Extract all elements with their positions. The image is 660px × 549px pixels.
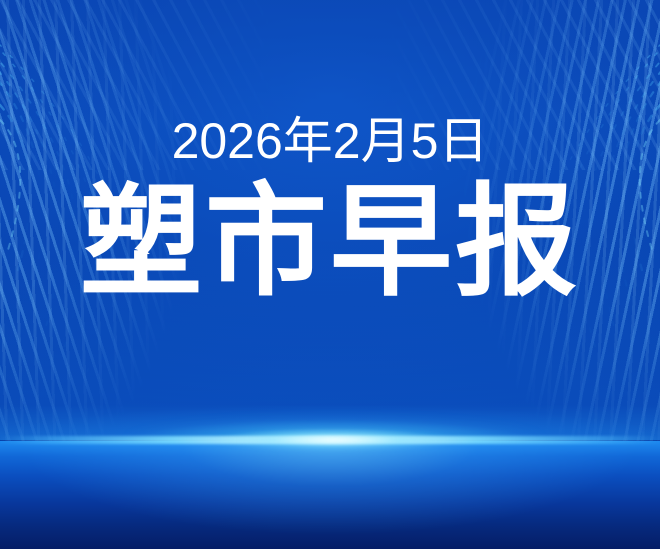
horizon-ground: [0, 441, 660, 549]
background-top-shading: [0, 0, 660, 440]
poster-canvas: 2026年2月5日 塑市早报: [0, 0, 660, 549]
